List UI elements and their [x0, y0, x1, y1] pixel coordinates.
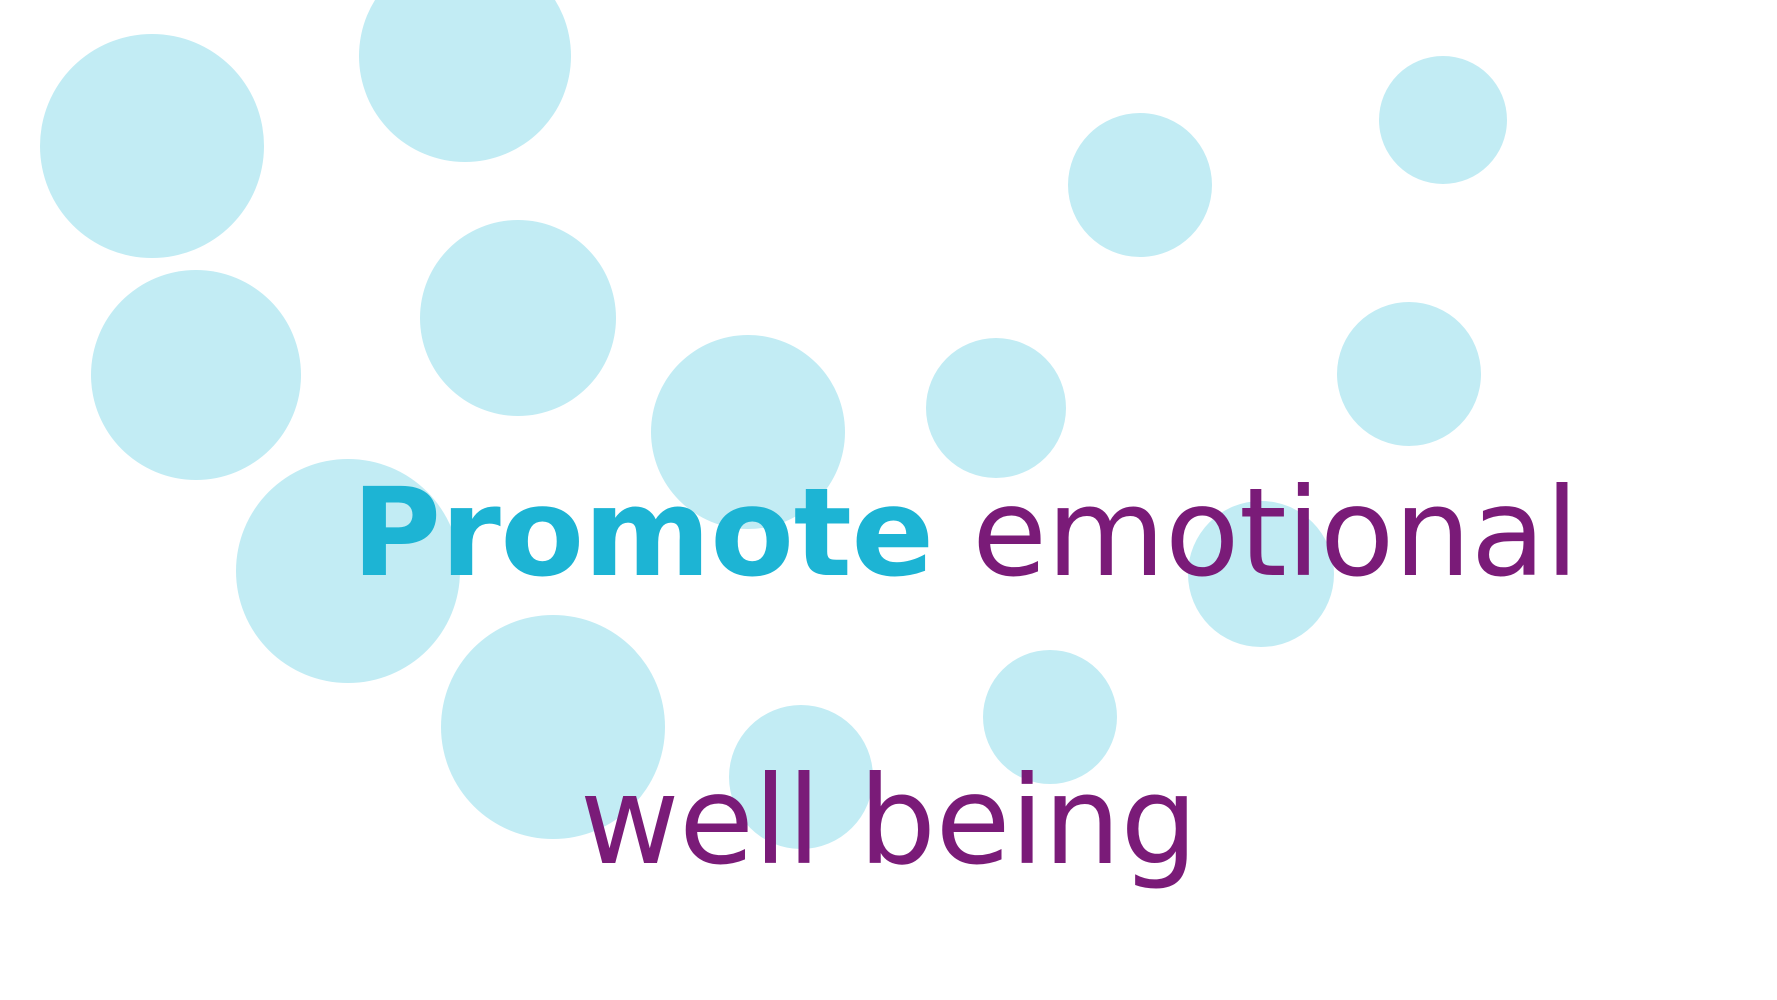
headline-line2: well being [60, 750, 1717, 894]
headline-accent-word: Promote [352, 462, 934, 604]
decorative-bubble [1379, 56, 1507, 184]
decorative-bubble [1068, 113, 1212, 257]
headline-line1-rest: emotional [934, 462, 1579, 604]
page-title: Promote emotional well being [0, 318, 1777, 1000]
decorative-bubble [359, 0, 571, 162]
decorative-bubble [40, 34, 264, 258]
slide-canvas: Promote emotional well being [0, 0, 1777, 1000]
